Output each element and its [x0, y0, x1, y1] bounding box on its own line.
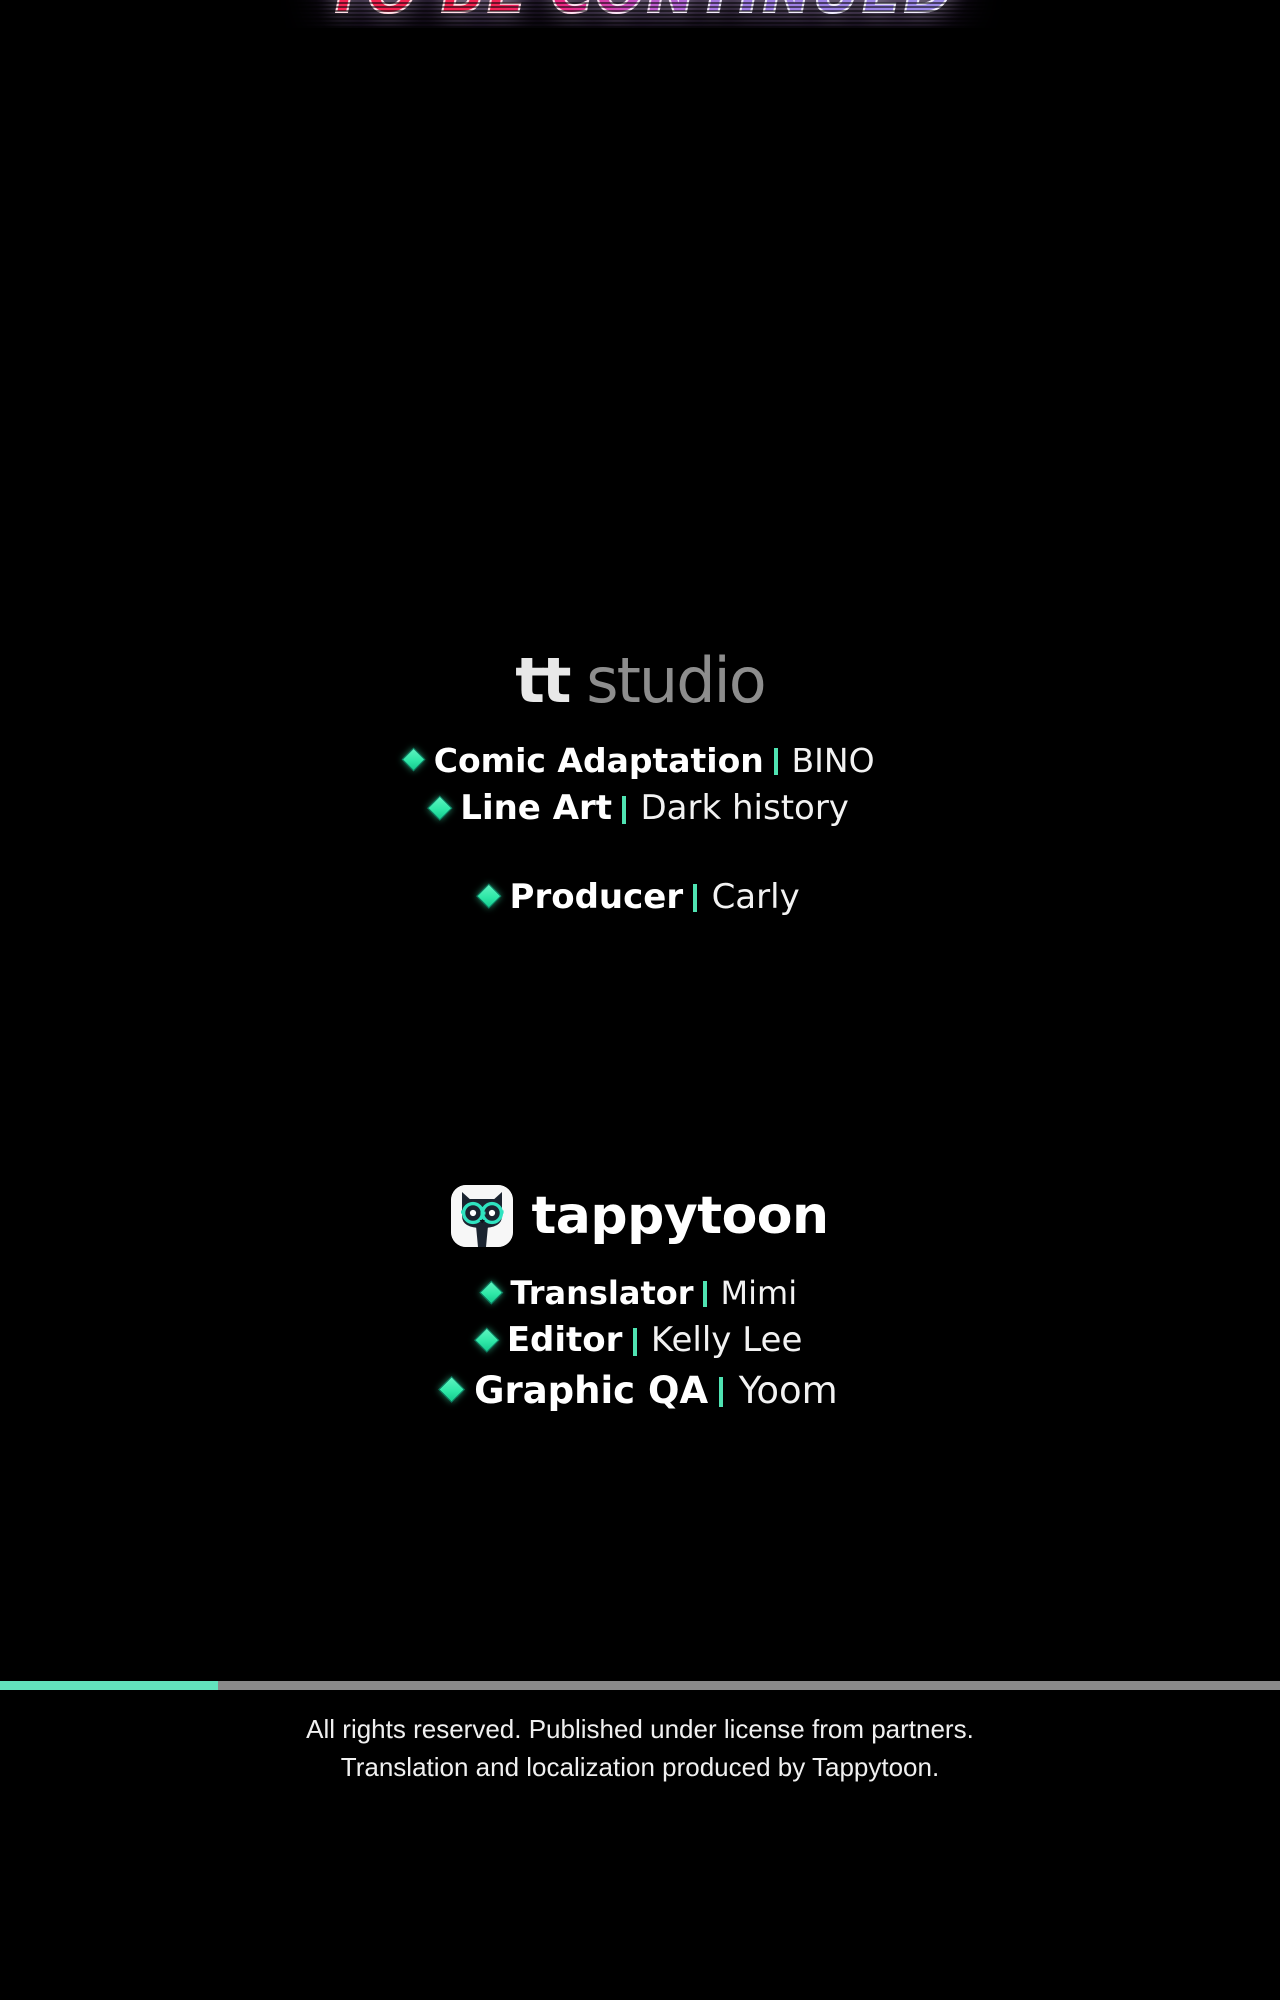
diamond-bullet-icon: [438, 1376, 465, 1403]
credit-separator-icon: [693, 884, 697, 912]
credit-row-producer: Producer Carly: [0, 876, 1280, 919]
credit-separator-icon: [633, 1328, 637, 1356]
studio-credits-section: tt studio Comic Adaptation BINO Line Art…: [0, 650, 1280, 918]
credit-row-editor: Editor Kelly Lee: [0, 1319, 1280, 1362]
reading-progress-fill: [0, 1681, 218, 1690]
to-be-continued-banner: TO BE CONTINUED: [0, 0, 1280, 28]
credit-role: Graphic QA: [474, 1368, 708, 1414]
tt-studio-word: studio: [586, 644, 764, 717]
diamond-bullet-icon: [474, 1327, 499, 1352]
credit-role: Editor: [507, 1319, 623, 1362]
credit-person: Dark history: [641, 787, 849, 830]
credit-row-comic-adaptation: Comic Adaptation BINO: [0, 740, 1280, 781]
credit-role: Producer: [510, 876, 684, 919]
credit-role: Translator: [510, 1273, 693, 1313]
credit-person: BINO: [792, 740, 875, 781]
credit-person: Yoom: [739, 1368, 838, 1414]
tt-studio-wordmark: tt studio: [515, 650, 764, 712]
publisher-credits-section: tappytoon Translator Mimi Editor Kelly L…: [0, 1185, 1280, 1414]
tappytoon-logo: tappytoon: [0, 1185, 1280, 1247]
credit-role: Line Art: [460, 787, 612, 830]
credit-separator-icon: [622, 796, 626, 824]
credit-separator-icon: [719, 1377, 723, 1407]
to-be-continued-text: TO BE CONTINUED: [326, 0, 954, 26]
diamond-bullet-icon: [477, 884, 502, 909]
tappytoon-wordmark: tappytoon: [531, 1190, 828, 1242]
credit-row-graphic-qa: Graphic QA Yoom: [0, 1368, 1280, 1414]
tt-studio-mark: tt: [515, 644, 568, 717]
copyright-line-1: All rights reserved. Published under lic…: [0, 1710, 1280, 1748]
diamond-bullet-icon: [427, 795, 452, 820]
studio-credit-list: Comic Adaptation BINO Line Art Dark hist…: [0, 740, 1280, 830]
credit-person: Mimi: [721, 1273, 798, 1313]
publisher-credit-list: Translator Mimi Editor Kelly Lee Graphic…: [0, 1273, 1280, 1414]
copyright-notice: All rights reserved. Published under lic…: [0, 1710, 1280, 1787]
credit-person: Carly: [712, 876, 800, 919]
reading-progress-bar[interactable]: [0, 1681, 1280, 1690]
studio-producer-row: Producer Carly: [0, 876, 1280, 919]
tappytoon-cat-icon: [451, 1185, 513, 1247]
credit-role: Comic Adaptation: [434, 740, 764, 781]
tt-studio-logo: tt studio: [0, 650, 1280, 712]
diamond-bullet-icon: [479, 1281, 503, 1305]
credit-row-translator: Translator Mimi: [0, 1273, 1280, 1313]
credit-separator-icon: [774, 748, 778, 775]
credit-row-line-art: Line Art Dark history: [0, 787, 1280, 830]
copyright-line-2: Translation and localization produced by…: [0, 1748, 1280, 1786]
credit-person: Kelly Lee: [651, 1319, 803, 1362]
credit-separator-icon: [703, 1281, 707, 1307]
diamond-bullet-icon: [402, 748, 426, 772]
